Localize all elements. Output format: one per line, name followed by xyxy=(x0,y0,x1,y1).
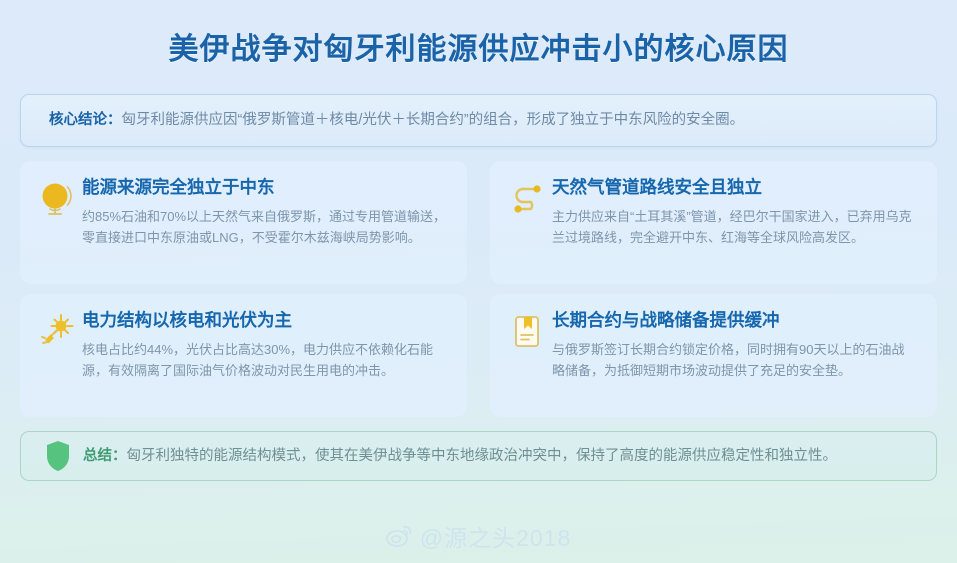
reason-card: 天然气管道路线安全且独立 主力供应来自“土耳其溪”管道，经巴尔干国家进入，已弃用… xyxy=(490,161,937,284)
globe-icon xyxy=(36,179,78,221)
shield-icon xyxy=(43,439,73,473)
reason-card-desc: 约85%石油和70%以上天然气来自俄罗斯，通过专用管道输送，零直接进口中东原油或… xyxy=(82,206,447,248)
contract-document-icon xyxy=(506,312,548,354)
reason-card-title: 天然气管道路线安全且独立 xyxy=(552,177,917,198)
summary-label: 总结： xyxy=(83,448,127,464)
core-conclusion-label: 核心结论： xyxy=(49,112,122,128)
watermark-text: @源之头2018 xyxy=(420,519,572,553)
reason-card-title: 能源来源完全独立于中东 xyxy=(82,177,447,198)
infographic-page: 美伊战争对匈牙利能源供应冲击小的核心原因 核心结论：匈牙利能源供应因“俄罗斯管道… xyxy=(0,0,957,563)
core-conclusion-banner: 核心结论：匈牙利能源供应因“俄罗斯管道＋核电/光伏＋长期合约”的组合，形成了独立… xyxy=(20,94,937,147)
core-conclusion-body: 匈牙利能源供应因“俄罗斯管道＋核电/光伏＋长期合约”的组合，形成了独立于中东风险… xyxy=(122,112,745,128)
page-title: 美伊战争对匈牙利能源供应冲击小的核心原因 xyxy=(20,0,937,68)
reason-card: 长期合约与战略储备提供缓冲 与俄罗斯签订长期合约锁定价格，同时拥有90天以上的石… xyxy=(490,294,937,417)
reason-cards-grid: 能源来源完全独立于中东 约85%石油和70%以上天然气来自俄罗斯，通过专用管道输… xyxy=(20,161,937,417)
reason-card: 能源来源完全独立于中东 约85%石油和70%以上天然气来自俄罗斯，通过专用管道输… xyxy=(20,161,467,284)
reason-card-body: 长期合约与战略储备提供缓冲 与俄罗斯签订长期合约锁定价格，同时拥有90天以上的石… xyxy=(548,310,917,381)
reason-card-body: 电力结构以核电和光伏为主 核电占比约44%，光伏占比高达30%，电力供应不依赖化… xyxy=(78,310,447,381)
core-conclusion-text: 核心结论：匈牙利能源供应因“俄罗斯管道＋核电/光伏＋长期合约”的组合，形成了独立… xyxy=(49,110,744,130)
reason-card-body: 能源来源完全独立于中东 约85%石油和70%以上天然气来自俄罗斯，通过专用管道输… xyxy=(78,177,447,248)
watermark: @源之头2018 xyxy=(0,519,957,553)
summary-text: 总结：匈牙利独特的能源结构模式，使其在美伊战争等中东地缘政治冲突中，保持了高度的… xyxy=(83,446,837,466)
reason-card-desc: 主力供应来自“土耳其溪”管道，经巴尔干国家进入，已弃用乌克兰过境路线，完全避开中… xyxy=(552,206,917,248)
weibo-icon xyxy=(386,525,412,547)
pipeline-route-icon xyxy=(506,179,548,221)
summary-body: 匈牙利独特的能源结构模式，使其在美伊战争等中东地缘政治冲突中，保持了高度的能源供… xyxy=(127,448,838,464)
reason-card: 电力结构以核电和光伏为主 核电占比约44%，光伏占比高达30%，电力供应不依赖化… xyxy=(20,294,467,417)
solar-plug-icon xyxy=(36,312,78,354)
reason-card-title: 电力结构以核电和光伏为主 xyxy=(82,310,447,331)
reason-card-desc: 核电占比约44%，光伏占比高达30%，电力供应不依赖化石能源，有效隔离了国际油气… xyxy=(82,339,447,381)
summary-banner: 总结：匈牙利独特的能源结构模式，使其在美伊战争等中东地缘政治冲突中，保持了高度的… xyxy=(20,431,937,481)
reason-card-desc: 与俄罗斯签订长期合约锁定价格，同时拥有90天以上的石油战略储备，为抵御短期市场波… xyxy=(552,339,917,381)
reason-card-body: 天然气管道路线安全且独立 主力供应来自“土耳其溪”管道，经巴尔干国家进入，已弃用… xyxy=(548,177,917,248)
reason-card-title: 长期合约与战略储备提供缓冲 xyxy=(552,310,917,331)
